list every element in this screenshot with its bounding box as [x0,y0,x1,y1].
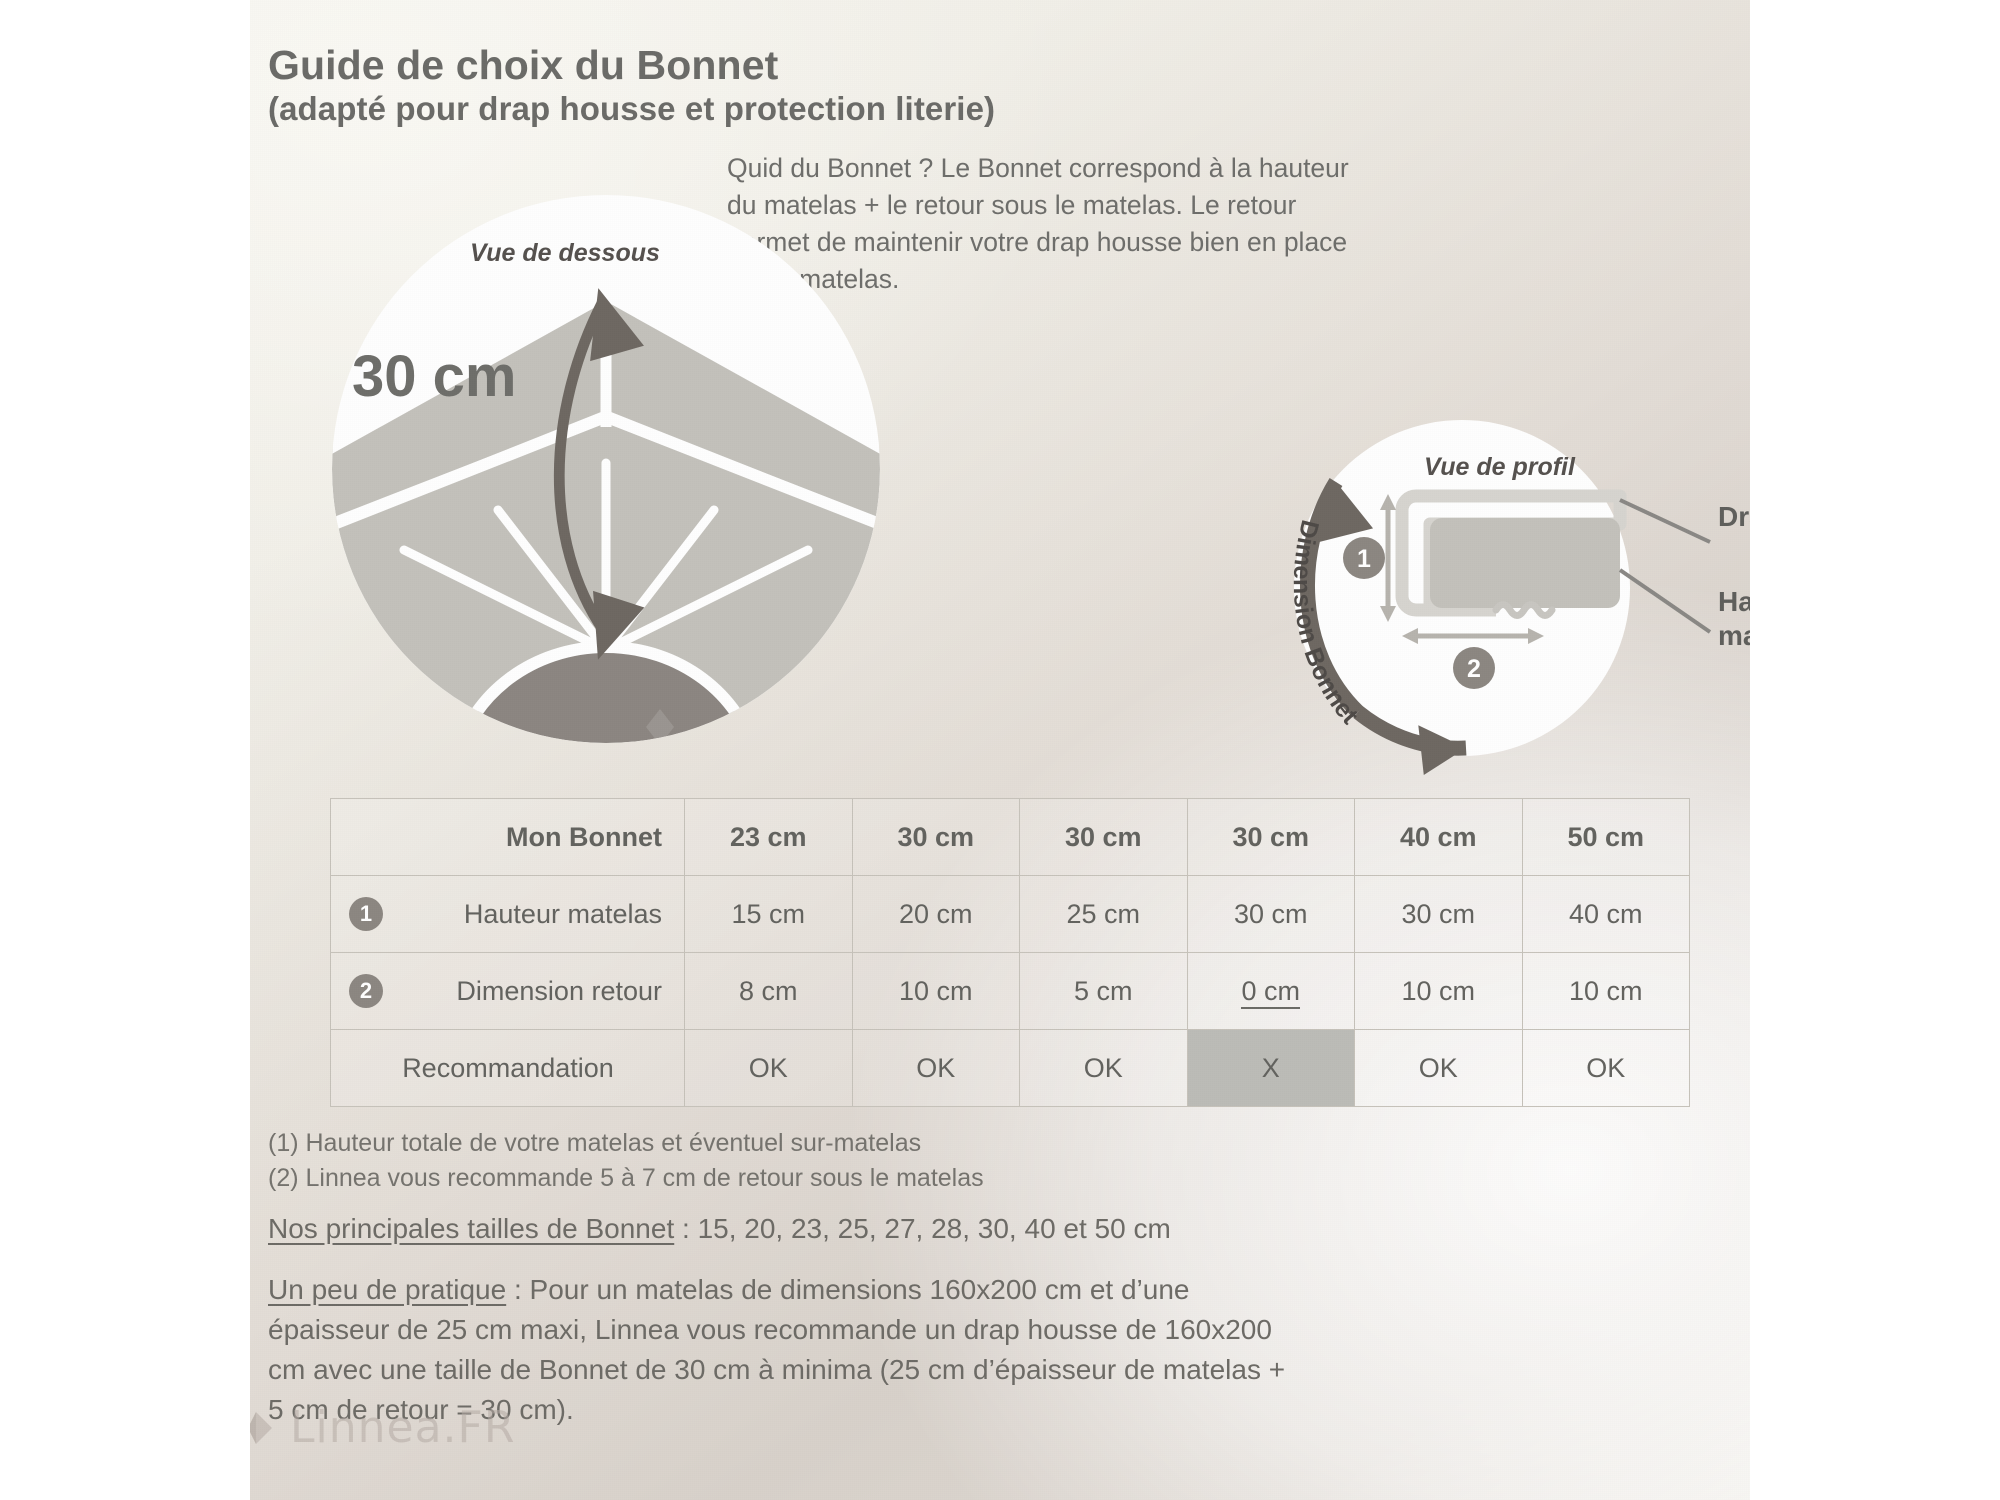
table-row: 2 Dimension retour 8 cm 10 cm 5 cm 0 cm … [331,953,1690,1030]
cell-r3c3-highlighted: X [1187,1030,1355,1107]
cell-r0c1: 30 cm [852,799,1020,876]
footnote-1: (1) Hauteur totale de votre matelas et é… [268,1126,984,1161]
badge-1: 1 [349,897,383,931]
screenshot-stage: Guide de choix du Bonnet (adapté pour dr… [0,0,2000,1500]
cell-r3c0: OK [685,1030,853,1107]
cell-r1c1: 20 cm [852,876,1020,953]
cell-r2c4: 10 cm [1355,953,1523,1030]
vue-dessous-illustration [332,195,880,743]
cell-r2c3-value: 0 cm [1241,976,1300,1009]
linnea-logo-text: Linnea.FR [290,1402,515,1453]
diagram-vue-de-profil: 1 2 Vue de profil [1290,420,1750,780]
page-title: Guide de choix du Bonnet [268,42,778,89]
footnote-2: (2) Linnea vous recommande 5 à 7 cm de r… [268,1161,984,1196]
label-hauteur-matelas-line1: Hauteur [1718,585,1750,619]
label-drap-housse: Drap housse [1718,500,1750,534]
row-label-dimension-retour: 2 Dimension retour [331,953,685,1030]
row-label-text: Hauteur matelas [464,899,662,929]
row-label-mon-bonnet: Mon Bonnet [331,799,685,876]
row-label-text: Mon Bonnet [506,822,662,852]
label-hauteur-matelas-line2: matelas [1718,619,1750,653]
sizes-line-value: : 15, 20, 23, 25, 27, 28, 30, 40 et 50 c… [674,1213,1171,1244]
diagram-vue-de-dessous: Vue de dessous 30 cm [332,195,880,743]
cell-r1c5: 40 cm [1522,876,1690,953]
cell-r2c1: 10 cm [852,953,1020,1030]
cell-r1c3: 30 cm [1187,876,1355,953]
cell-r1c4: 30 cm [1355,876,1523,953]
diamond-arrow-icon [250,1406,276,1450]
cell-r3c4: OK [1355,1030,1523,1107]
cell-r1c0: 15 cm [685,876,853,953]
row-label-hauteur-matelas: 1 Hauteur matelas [331,876,685,953]
cell-r0c3: 30 cm [1187,799,1355,876]
row-label-text: Recommandation [402,1053,614,1083]
cell-r2c3: 0 cm [1187,953,1355,1030]
pratique-label: Un peu de pratique [268,1274,506,1305]
cell-r0c0: 23 cm [685,799,853,876]
svg-text:2: 2 [1467,655,1481,683]
linnea-logo[interactable]: Linnea.FR [250,1402,515,1453]
cell-r2c2: 5 cm [1020,953,1188,1030]
cell-r3c2: OK [1020,1030,1188,1107]
sizes-line-label: Nos principales tailles de Bonnet [268,1213,674,1244]
badge-2: 2 [349,974,383,1008]
footnotes-block: (1) Hauteur totale de votre matelas et é… [268,1126,984,1196]
svg-text:1: 1 [1357,545,1371,573]
sizes-line: Nos principales tailles de Bonnet : 15, … [268,1209,1171,1249]
row-label-recommandation: Recommandation [331,1030,685,1107]
page-subtitle: (adapté pour drap housse et protection l… [268,90,995,128]
vue-profil-caption: Vue de profil [1424,453,1575,482]
label-hauteur-matelas: Hauteur matelas [1718,585,1750,653]
table-row: Mon Bonnet 23 cm 30 cm 30 cm 30 cm 40 cm… [331,799,1690,876]
table-row: 1 Hauteur matelas 15 cm 20 cm 25 cm 30 c… [331,876,1690,953]
measure-30cm-label: 30 cm [352,343,516,410]
table-row: Recommandation OK OK OK X OK OK [331,1030,1690,1107]
cell-r0c2: 30 cm [1020,799,1188,876]
cell-r3c1: OK [852,1030,1020,1107]
cell-r0c5: 50 cm [1522,799,1690,876]
cell-r3c5: OK [1522,1030,1690,1107]
bonnet-table: Mon Bonnet 23 cm 30 cm 30 cm 30 cm 40 cm… [330,798,1690,1107]
row-label-text: Dimension retour [456,976,662,1006]
vue-dessous-caption: Vue de dessous [470,239,660,268]
infographic-canvas: Guide de choix du Bonnet (adapté pour dr… [250,0,1750,1500]
cell-r2c5: 10 cm [1522,953,1690,1030]
cell-r2c0: 8 cm [685,953,853,1030]
cell-r0c4: 40 cm [1355,799,1523,876]
intro-paragraph: Quid du Bonnet ? Le Bonnet correspond à … [727,150,1367,298]
cell-r1c2: 25 cm [1020,876,1188,953]
